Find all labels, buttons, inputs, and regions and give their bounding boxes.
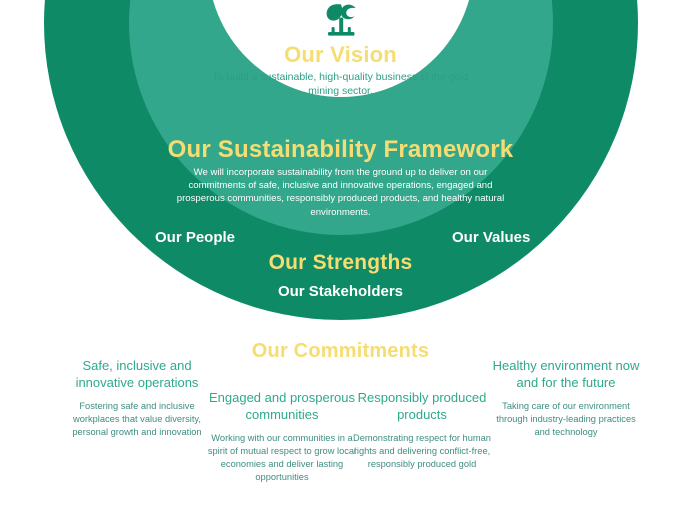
- strengths-bottom-label: Our Stakeholders: [141, 283, 541, 301]
- commitment-heading: Safe, inclusive and innovative operation…: [62, 357, 212, 391]
- vision-title: Our Vision: [191, 42, 491, 68]
- strengths-title: Our Strengths: [141, 250, 541, 275]
- framework-text: We will incorporate sustainability from …: [171, 166, 511, 219]
- strengths-right-label: Our Values: [452, 229, 530, 247]
- vision-text: To build a sustainable, high-quality bus…: [211, 70, 471, 98]
- strengths-left-label: Our People: [155, 229, 235, 247]
- commitment-body: Demonstrating respect for human rights a…: [352, 432, 492, 471]
- commitment-column: Engaged and prosperous communities Worki…: [206, 389, 358, 484]
- sprout-icon: [319, 1, 363, 41]
- commitment-body: Taking care of our environment through i…: [490, 400, 642, 439]
- commitment-column: Healthy environment now and for the futu…: [490, 357, 642, 439]
- commitment-body: Fostering safe and inclusive workplaces …: [62, 400, 212, 439]
- sustainability-framework-infographic: Our Vision To build a sustainable, high-…: [0, 0, 681, 521]
- commitment-column: Safe, inclusive and innovative operation…: [62, 357, 212, 439]
- commitment-heading: Engaged and prosperous communities: [206, 389, 358, 423]
- commitment-heading: Responsibly produced products: [352, 389, 492, 423]
- commitment-heading: Healthy environment now and for the futu…: [490, 357, 642, 391]
- framework-title: Our Sustainability Framework: [61, 136, 621, 164]
- commitment-body: Working with our communities in a spirit…: [206, 432, 358, 484]
- commitment-column: Responsibly produced products Demonstrat…: [352, 389, 492, 471]
